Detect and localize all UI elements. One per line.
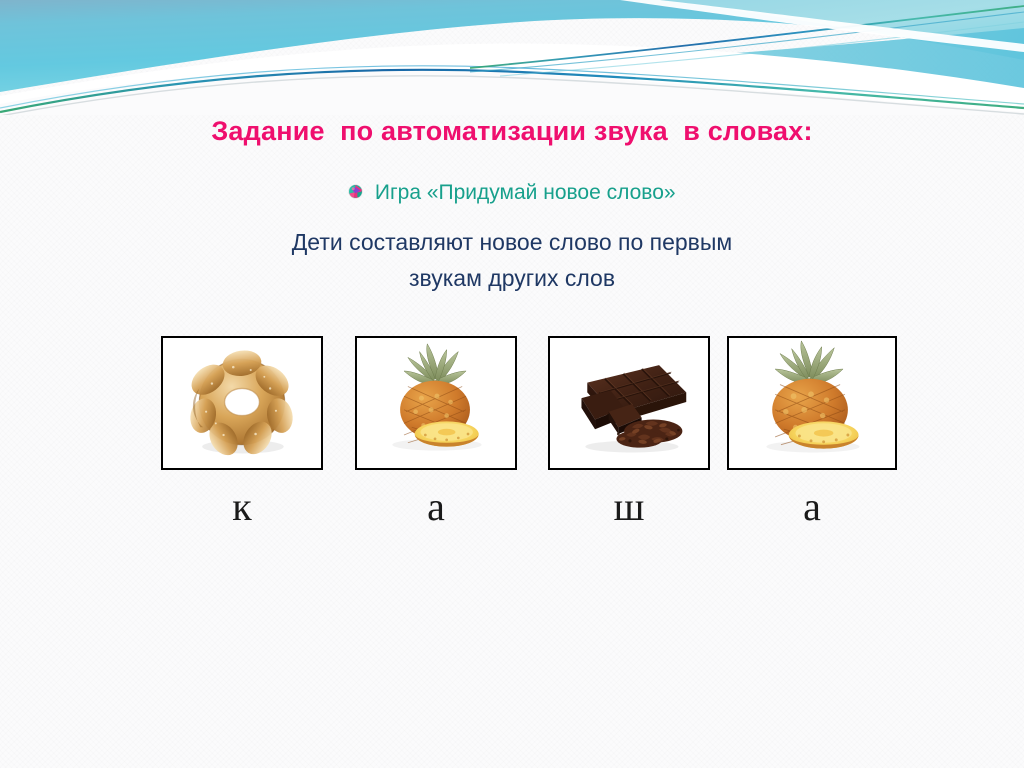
subtitle-row: Игра «Придумай новое слово» (0, 182, 1024, 203)
pineapple-with-slice-image (357, 338, 515, 468)
subtitle-text: Игра «Придумай новое слово» (375, 181, 676, 204)
pineapple-with-slice-image (729, 338, 895, 468)
picture-card-row (161, 336, 901, 470)
letter-under-card-3: ш (548, 484, 710, 530)
body-text: Дети составляют новое слово по первым зв… (0, 224, 1024, 296)
picture-card-bread (161, 336, 323, 470)
body-text-line-2: звукам других слов (0, 260, 1024, 296)
letter-under-card-1: к (161, 484, 323, 530)
letter-under-card-2: а (355, 484, 517, 530)
body-text-line-1: Дети составляют новое слово по первым (0, 224, 1024, 260)
page-title: Задание по автоматизации звука в словах: (0, 116, 1024, 147)
picture-card-pineapple-2 (727, 336, 897, 470)
slide: Задание по автоматизации звука в словах: (0, 0, 1024, 768)
braided-bread-ring-image (163, 338, 321, 468)
picture-card-pineapple-1 (355, 336, 517, 470)
dark-chocolate-bar-image (550, 338, 708, 468)
picture-card-chocolate (548, 336, 710, 470)
letter-under-card-4: а (727, 484, 897, 530)
multicolor-sphere-bullet-icon (348, 184, 363, 199)
letter-row: к а ш а (161, 484, 901, 534)
slide-content: Задание по автоматизации звука в словах: (0, 0, 1024, 768)
